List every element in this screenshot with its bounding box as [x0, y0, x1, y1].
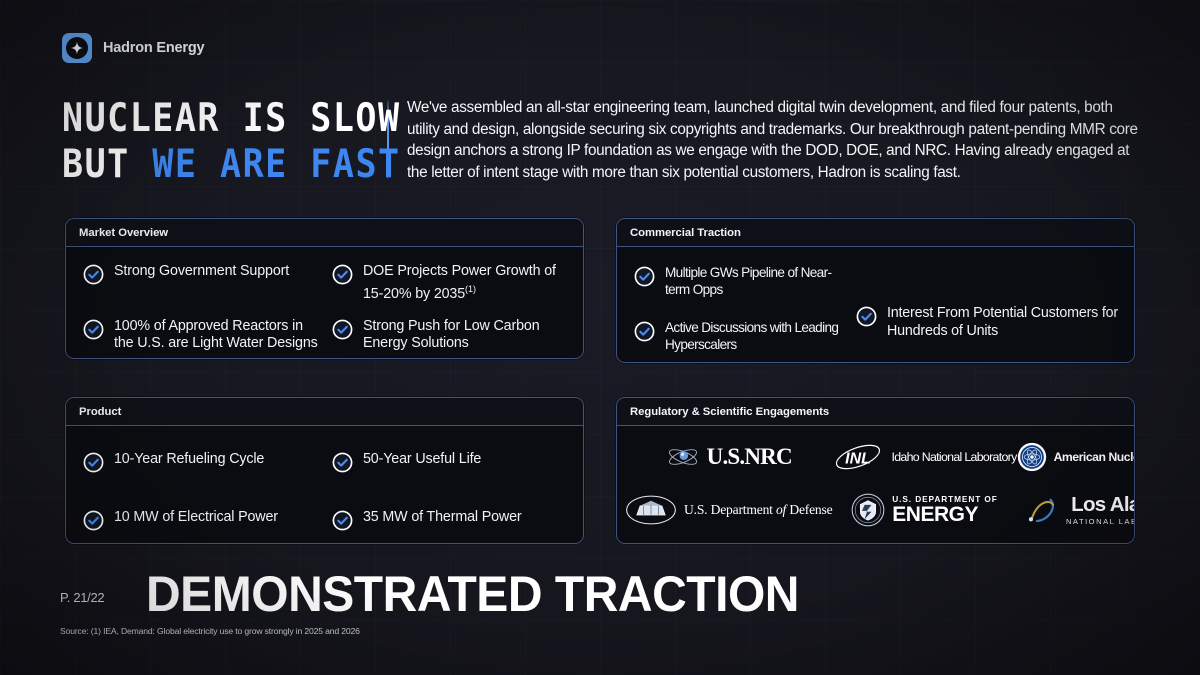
hero-headline: NUCLEAR IS SLOW BUT WE ARE FAST [62, 94, 387, 194]
logo-label: U.S.NRC [707, 444, 792, 470]
card-title: Regulatory & Scientific Engagements [630, 406, 829, 418]
feature-item: Strong Government Support [83, 263, 320, 303]
logo-label-main: Los Alamos [1071, 495, 1135, 516]
card-product: Product 10-Year Refueling Cycle 50-Year … [65, 397, 584, 544]
headline-line-2-white: BUT [62, 142, 152, 187]
four-point-star-icon [62, 33, 92, 63]
card-regulatory-engagements: Regulatory & Scientific Engagements U.S.… [616, 397, 1135, 544]
feature-label: Multiple GWs Pipeline of Near-term Opps [665, 265, 849, 298]
logo-inl: INL Idaho National Laboratory [832, 440, 1016, 474]
check-circle-icon [332, 319, 353, 340]
check-circle-icon [332, 452, 353, 473]
card-title: Commercial Traction [630, 227, 741, 239]
logo-label: Idaho National Laboratory [891, 450, 1016, 464]
card-market-overview: Market Overview Strong Government Suppor… [65, 218, 584, 359]
check-circle-icon [83, 452, 104, 473]
card-header: Commercial Traction [617, 219, 1134, 247]
brand-name: Hadron Energy [103, 40, 204, 56]
feature-item: 50-Year Useful Life [332, 451, 569, 473]
hero-body-paragraph: We've assembled an all-star engineering … [407, 94, 1140, 183]
check-circle-icon [83, 264, 104, 285]
feature-label: 35 MW of Thermal Power [363, 509, 522, 527]
logo-american-nuclear-society: American Nuclear Society [1017, 442, 1135, 472]
feature-item: Interest From Potential Customers for Hu… [856, 305, 1124, 340]
card-title: Market Overview [79, 227, 168, 239]
doe-seal-icon [851, 493, 885, 527]
source-citation: Source: (1) IEA, Demand: Global electric… [60, 626, 360, 636]
feature-label-main: DOE Projects Power Growth of 15-20% by 2… [363, 263, 556, 301]
check-circle-icon [83, 510, 104, 531]
feature-item: 100% of Approved Reactors in the U.S. ar… [83, 318, 320, 353]
svg-text:INL: INL [846, 450, 872, 467]
partner-logo-wall: U.S.NRC INL Idaho National Laboratory [617, 426, 1134, 543]
feature-label: DOE Projects Power Growth of 15-20% by 2… [363, 263, 569, 303]
card-header: Product [66, 398, 583, 426]
feature-label: Interest From Potential Customers for Hu… [887, 305, 1124, 340]
card-commercial-traction: Commercial Traction Multiple GWs Pipelin… [616, 218, 1135, 363]
feature-label: 10-Year Refueling Cycle [114, 451, 264, 469]
logo-doe: U.S. DEPARTMENT OF ENERGY [851, 493, 997, 527]
check-circle-icon [634, 266, 655, 287]
logo-los-alamos: Los Alamos NATIONAL LABORATORY [1025, 493, 1135, 527]
nrc-atom-icon [666, 444, 700, 470]
page-number: P. 21/22 [60, 590, 104, 605]
feature-label: 10 MW of Electrical Power [114, 509, 278, 527]
ans-seal-icon [1017, 442, 1047, 472]
check-circle-icon [332, 264, 353, 285]
card-body: Strong Government Support DOE Projects P… [66, 247, 583, 358]
dod-pentagon-icon [625, 494, 677, 526]
feature-grid: Strong Government Support DOE Projects P… [80, 261, 569, 353]
slide-title: DEMONSTRATED TRACTION [146, 565, 799, 623]
feature-item: Multiple GWs Pipeline of Near-term Opps [634, 265, 849, 298]
headline-line-2: BUT WE ARE FAST [62, 142, 387, 188]
feature-label: Active Discussions with Leading Hypersca… [665, 320, 849, 353]
logo-label-part-2: Defense [786, 502, 832, 517]
feature-label: 50-Year Useful Life [363, 451, 481, 469]
headline-line-2-accent: WE ARE FAST [152, 142, 400, 187]
logo-label-stack: U.S. DEPARTMENT OF ENERGY [892, 495, 997, 525]
feature-item: 10-Year Refueling Cycle [83, 451, 320, 473]
feature-column-left: Multiple GWs Pipeline of Near-term Opps … [634, 265, 849, 353]
card-header: Regulatory & Scientific Engagements [617, 398, 1134, 426]
card-body: 10-Year Refueling Cycle 50-Year Useful L… [66, 426, 583, 543]
feature-item: Strong Push for Low Carbon Energy Soluti… [332, 318, 569, 353]
card-body: U.S.NRC INL Idaho National Laboratory [617, 426, 1134, 543]
feature-item: 10 MW of Electrical Power [83, 509, 320, 531]
los-alamos-atom-icon [1025, 493, 1059, 527]
logo-label-stack: Los Alamos NATIONAL LABORATORY [1066, 495, 1135, 526]
check-circle-icon [83, 319, 104, 340]
logo-label-main: ENERGY [892, 504, 978, 525]
feature-label: Strong Government Support [114, 263, 289, 281]
feature-item: 35 MW of Thermal Power [332, 509, 569, 531]
feature-column-right: Interest From Potential Customers for Hu… [856, 305, 1124, 340]
feature-grid: 10-Year Refueling Cycle 50-Year Useful L… [80, 440, 569, 531]
logo-label-italic: of [776, 502, 786, 517]
feature-label: Strong Push for Low Carbon Energy Soluti… [363, 318, 569, 353]
brand-lockup: Hadron Energy [62, 33, 204, 63]
logo-label-top: U.S. DEPARTMENT OF [892, 495, 997, 503]
hero-section: NUCLEAR IS SLOW BUT WE ARE FAST We've as… [62, 94, 1140, 183]
logo-label-sub: NATIONAL LABORATORY [1066, 518, 1135, 526]
check-circle-icon [332, 510, 353, 531]
inl-orbit-icon: INL [832, 440, 884, 474]
card-title: Product [79, 406, 121, 418]
card-header: Market Overview [66, 219, 583, 247]
logo-usnrc: U.S.NRC [666, 444, 792, 470]
logo-label-part-1: U.S. Department [684, 502, 776, 517]
feature-item: Active Discussions with Leading Hypersca… [634, 320, 849, 353]
check-circle-icon [856, 306, 877, 327]
logo-dod: U.S. Department of Defense [625, 494, 832, 526]
feature-label: 100% of Approved Reactors in the U.S. ar… [114, 318, 320, 353]
check-circle-icon [634, 321, 655, 342]
logo-label: American Nuclear Society [1054, 450, 1135, 464]
headline-line-1: NUCLEAR IS SLOW [62, 96, 387, 142]
feature-footnote-marker: (1) [465, 284, 476, 294]
feature-item: DOE Projects Power Growth of 15-20% by 2… [332, 263, 569, 303]
logo-label: U.S. Department of Defense [684, 502, 832, 518]
card-body: Multiple GWs Pipeline of Near-term Opps … [617, 247, 1134, 362]
